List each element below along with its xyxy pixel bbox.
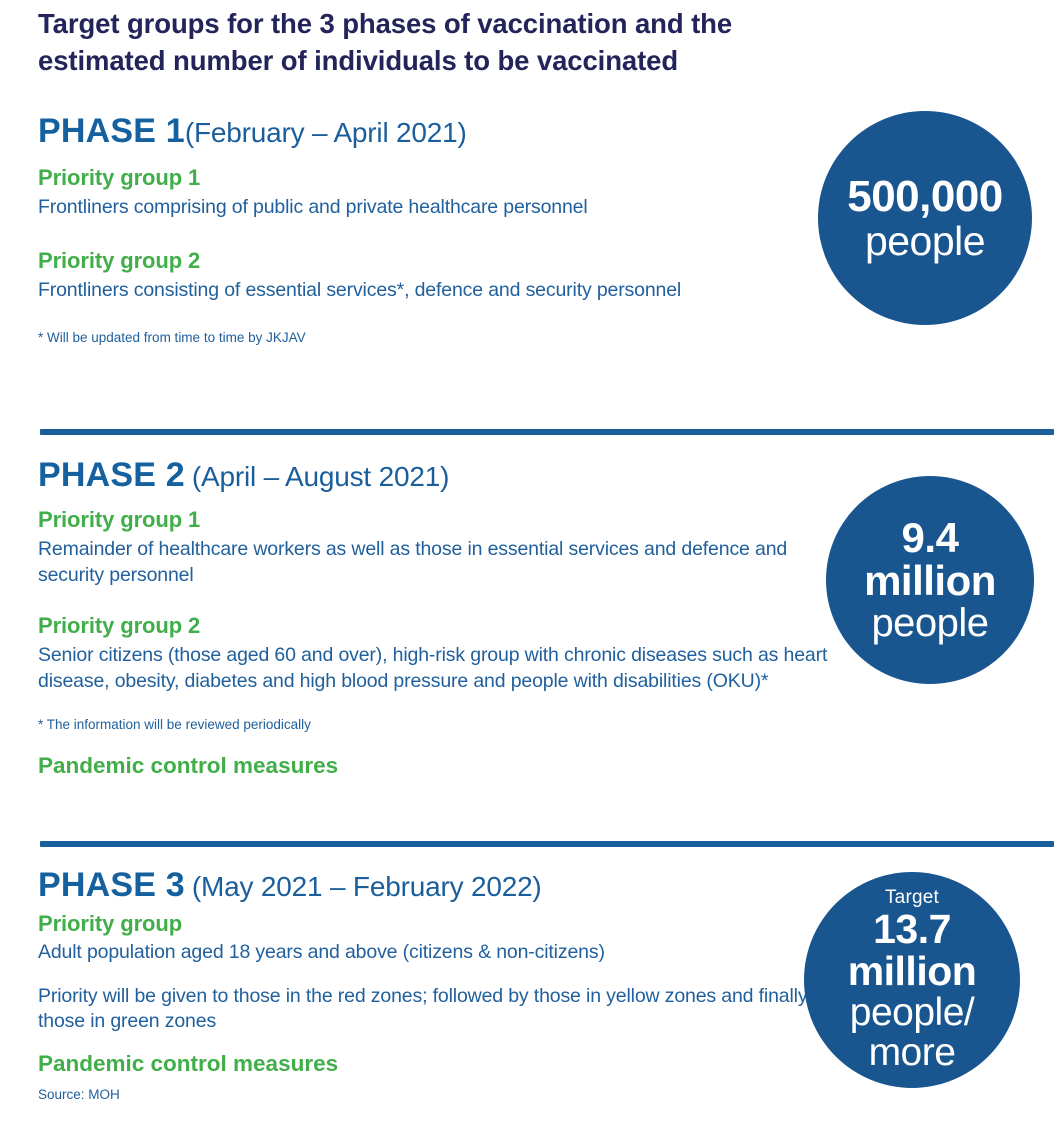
phase-3-heading: PHASE 3(May 2021 – February 2022) — [38, 868, 838, 904]
phase-3-badge-unit: million — [848, 951, 977, 992]
phase-2-name: PHASE 2 — [38, 456, 185, 494]
phase-2-group-1-body: Remainder of healthcare workers as well … — [38, 537, 828, 588]
phase-1-badge: 500,000 people — [818, 111, 1032, 325]
phase-1-dates: (February – April 2021) — [185, 117, 467, 148]
page-title-line-2: estimated number of individuals to be va… — [38, 45, 678, 76]
header: Target groups for the 3 phases of vaccin… — [38, 6, 938, 79]
phase-2-badge: 9.4 million people — [826, 476, 1034, 684]
phase-3-extra-note: Priority will be given to those in the r… — [38, 984, 828, 1035]
phase-2-pandemic-measures: Pandemic control measures — [38, 752, 868, 779]
section-divider-2 — [40, 841, 1054, 847]
phase-2-group-2-body: Senior citizens (those aged 60 and over)… — [38, 643, 850, 694]
section-divider-1 — [40, 429, 1054, 435]
phase-3-badge-number: 13.7 — [873, 909, 951, 950]
phase-1-group-2-title: Priority group 2 — [38, 247, 798, 275]
page-title-part-2: of vaccination and the — [436, 8, 732, 39]
phase-1-section: PHASE 1(February – April 2021) Priority … — [38, 114, 798, 347]
phase-2-group-1-title: Priority group 1 — [38, 506, 868, 534]
phase-2-footnote: * The information will be reviewed perio… — [38, 716, 868, 734]
phase-2-group-2-title: Priority group 2 — [38, 612, 868, 640]
phase-3-badge-people: people/ — [850, 993, 974, 1032]
phase-1-group-1-body: Frontliners comprising of public and pri… — [38, 195, 698, 220]
phase-3-name: PHASE 3 — [38, 866, 185, 904]
phase-2-dates: (April – August 2021) — [185, 461, 449, 492]
phase-3-dates: (May 2021 – February 2022) — [185, 871, 542, 902]
page-title-emphasis: 3 phases — [319, 8, 436, 39]
phase-1-group-2-body: Frontliners consisting of essential serv… — [38, 278, 718, 303]
phase-2-heading: PHASE 2(April – August 2021) — [38, 458, 868, 494]
page-title: Target groups for the 3 phases of vaccin… — [38, 6, 938, 79]
phase-2-badge-people: people — [871, 603, 988, 643]
phase-1-group-1-title: Priority group 1 — [38, 164, 798, 192]
source-label: Source: MOH — [38, 1087, 838, 1102]
phase-3-group-title: Priority group — [38, 910, 838, 938]
phase-3-section: PHASE 3(May 2021 – February 2022) Priori… — [38, 868, 838, 1102]
infographic-page: Target groups for the 3 phases of vaccin… — [0, 0, 1054, 1143]
phase-1-footnote: * Will be updated from time to time by J… — [38, 329, 798, 347]
page-title-part-1: Target groups for the — [38, 8, 319, 39]
phase-1-name: PHASE 1 — [38, 112, 185, 150]
phase-2-section: PHASE 2(April – August 2021) Priority gr… — [38, 458, 868, 779]
phase-2-badge-number: 9.4 — [902, 517, 959, 559]
phase-3-badge-label: Target — [885, 888, 939, 907]
phase-1-badge-number: 500,000 — [847, 175, 1003, 219]
phase-2-badge-unit: million — [864, 560, 996, 602]
phase-3-badge-people-2: more — [869, 1033, 956, 1072]
phase-3-pandemic-measures: Pandemic control measures — [38, 1050, 838, 1077]
phase-3-group-body: Adult population aged 18 years and above… — [38, 940, 760, 965]
phase-1-heading: PHASE 1(February – April 2021) — [38, 114, 798, 150]
phase-1-badge-people: people — [865, 221, 985, 262]
phase-3-badge: Target 13.7 million people/ more — [804, 872, 1020, 1088]
